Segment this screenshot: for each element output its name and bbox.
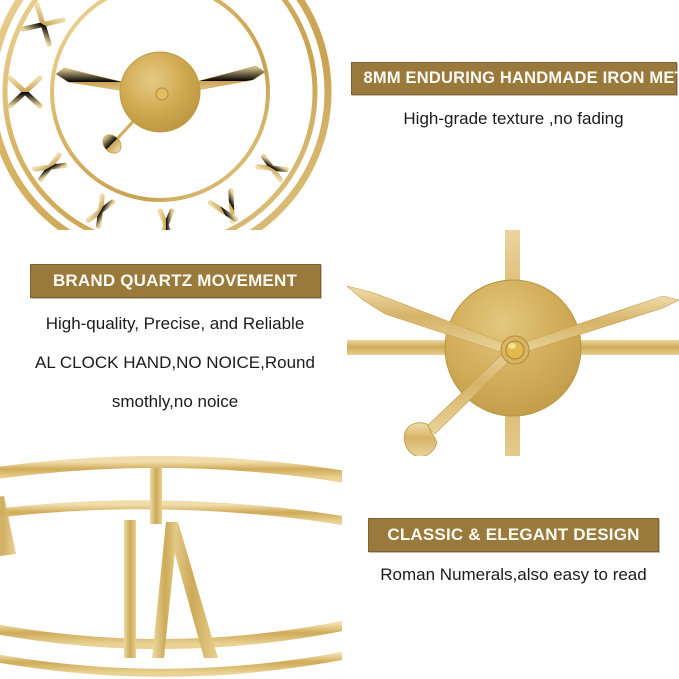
clock-illustration xyxy=(0,0,350,230)
feature-block-classic: CLASSIC & ELEGANT DESIGN Roman Numerals,… xyxy=(348,518,679,585)
product-photo-hub-macro xyxy=(345,230,679,456)
feature-subtext-quartz-line-1: High-quality, Precise, and Reliable xyxy=(46,311,305,337)
feature-subtext-classic: Roman Numerals,also easy to read xyxy=(380,565,646,585)
infographic-root: 8MM ENDURING HANDMADE IRON METAL High-gr… xyxy=(0,0,679,679)
feature-subtext-quartz-line-2: AL CLOCK HAND,NO NOICE,Round xyxy=(35,350,315,376)
feature-subtext-quartz-line-3: smothly,no noice xyxy=(112,389,238,415)
roman-numeral-illustration xyxy=(0,452,342,679)
product-photo-numeral-detail xyxy=(0,452,342,679)
feature-block-iron: 8MM ENDURING HANDMADE IRON METAL High-gr… xyxy=(348,62,679,129)
feature-subtext-iron: High-grade texture ,no fading xyxy=(403,109,623,129)
feature-banner-classic: CLASSIC & ELEGANT DESIGN xyxy=(368,518,659,552)
feature-block-quartz: BRAND QUARTZ MOVEMENT High-quality, Prec… xyxy=(10,264,340,415)
clock-hub-illustration xyxy=(345,230,679,456)
feature-banner-iron: 8MM ENDURING HANDMADE IRON METAL xyxy=(351,62,677,95)
feature-banner-quartz: BRAND QUARTZ MOVEMENT xyxy=(30,264,321,298)
product-photo-clock-full xyxy=(0,0,350,230)
